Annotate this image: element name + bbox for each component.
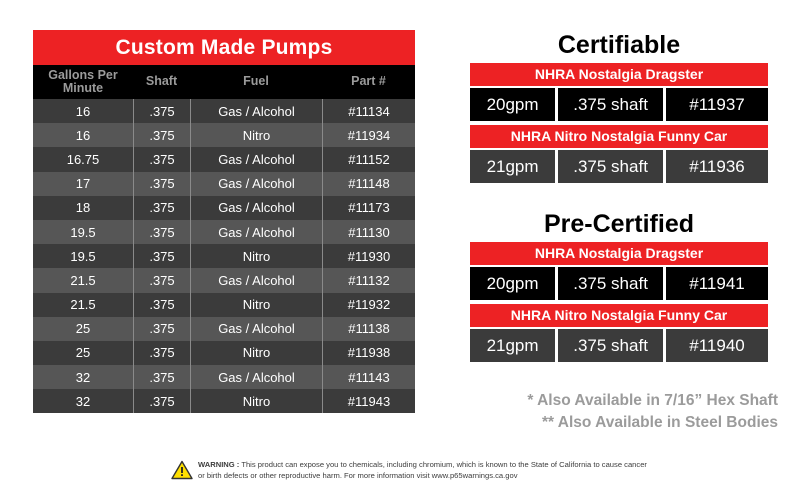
cell-shaft: .375 bbox=[133, 268, 190, 292]
precertified-group-row: 20gpm.375 shaft#11941 bbox=[470, 267, 768, 300]
main-table-body: 16.375Gas / Alcohol#1113416.375Nitro#119… bbox=[33, 99, 415, 413]
cell-fuel: Gas / Alcohol bbox=[190, 317, 322, 341]
prop65-text: WARNING : This product can expose you to… bbox=[198, 459, 651, 481]
certifiable-cell-gpm: 21gpm bbox=[470, 150, 555, 183]
cell-part-number: #11943 bbox=[322, 389, 415, 413]
precertified-cell-gpm: 21gpm bbox=[470, 329, 555, 362]
cell-shaft: .375 bbox=[133, 123, 190, 147]
table-row: 21.5.375Nitro#11932 bbox=[33, 293, 415, 317]
precertified-panel: Pre-Certified NHRA Nostalgia Dragster20g… bbox=[470, 209, 768, 366]
table-row: 17.375Gas / Alcohol#11148 bbox=[33, 172, 415, 196]
cell-gallons-per-minute: 19.5 bbox=[33, 244, 133, 268]
precertified-group-row: 21gpm.375 shaft#11940 bbox=[470, 329, 768, 362]
table-row: 21.5.375Gas / Alcohol#11132 bbox=[33, 268, 415, 292]
table-row: 25.375Gas / Alcohol#11138 bbox=[33, 317, 415, 341]
certifiable-title: Certifiable bbox=[470, 30, 768, 63]
cell-gallons-per-minute: 25 bbox=[33, 341, 133, 365]
cell-part-number: #11932 bbox=[322, 293, 415, 317]
cell-gallons-per-minute: 18 bbox=[33, 196, 133, 220]
cell-gallons-per-minute: 16 bbox=[33, 99, 133, 123]
cell-shaft: .375 bbox=[133, 244, 190, 268]
cell-part-number: #11130 bbox=[322, 220, 415, 244]
table-row: 32.375Nitro#11943 bbox=[33, 389, 415, 413]
cell-fuel: Nitro bbox=[190, 389, 322, 413]
cell-part-number: #11132 bbox=[322, 268, 415, 292]
cell-fuel: Gas / Alcohol bbox=[190, 196, 322, 220]
table-row: 16.75.375Gas / Alcohol#11152 bbox=[33, 147, 415, 171]
table-row: 16.375Nitro#11934 bbox=[33, 123, 415, 147]
precertified-title: Pre-Certified bbox=[470, 209, 768, 242]
cell-part-number: #11148 bbox=[322, 172, 415, 196]
table-row: 18.375Gas / Alcohol#11173 bbox=[33, 196, 415, 220]
main-table-header-row: Gallons Per Minute Shaft Fuel Part # bbox=[33, 65, 415, 99]
cell-fuel: Nitro bbox=[190, 341, 322, 365]
table-row: 19.5.375Gas / Alcohol#11130 bbox=[33, 220, 415, 244]
cell-part-number: #11930 bbox=[322, 244, 415, 268]
certifiable-group-heading: NHRA Nostalgia Dragster bbox=[470, 63, 768, 86]
cell-part-number: #11173 bbox=[322, 196, 415, 220]
precertified-cell-shaft: .375 shaft bbox=[558, 267, 663, 300]
cell-shaft: .375 bbox=[133, 317, 190, 341]
cell-gallons-per-minute: 16.75 bbox=[33, 147, 133, 171]
cell-fuel: Nitro bbox=[190, 123, 322, 147]
certifiable-cell-part-number: #11937 bbox=[666, 88, 768, 121]
cell-gallons-per-minute: 25 bbox=[33, 317, 133, 341]
column-header-fuel: Fuel bbox=[190, 65, 322, 99]
cell-shaft: .375 bbox=[133, 293, 190, 317]
custom-made-pumps-table: Custom Made Pumps Gallons Per Minute Sha… bbox=[33, 30, 415, 413]
table-row: 25.375Nitro#11938 bbox=[33, 341, 415, 365]
cell-part-number: #11152 bbox=[322, 147, 415, 171]
certifiable-cell-shaft: .375 shaft bbox=[558, 88, 663, 121]
cell-shaft: .375 bbox=[133, 172, 190, 196]
certifiable-groups: NHRA Nostalgia Dragster20gpm.375 shaft#1… bbox=[470, 63, 768, 183]
cell-fuel: Gas / Alcohol bbox=[190, 99, 322, 123]
column-header-gpm-line2: Minute bbox=[48, 82, 117, 95]
cell-part-number: #11143 bbox=[322, 365, 415, 389]
certifiable-cell-shaft: .375 shaft bbox=[558, 150, 663, 183]
cell-gallons-per-minute: 17 bbox=[33, 172, 133, 196]
cell-fuel: Gas / Alcohol bbox=[190, 268, 322, 292]
certifiable-panel: Certifiable NHRA Nostalgia Dragster20gpm… bbox=[470, 30, 768, 187]
column-header-part-number: Part # bbox=[322, 65, 415, 99]
cell-shaft: .375 bbox=[133, 196, 190, 220]
cell-shaft: .375 bbox=[133, 99, 190, 123]
column-header-shaft: Shaft bbox=[133, 65, 190, 99]
footnote-hex-shaft: * Also Available in 7/16” Hex Shaft bbox=[458, 390, 778, 412]
cell-shaft: .375 bbox=[133, 147, 190, 171]
cell-shaft: .375 bbox=[133, 341, 190, 365]
cell-part-number: #11938 bbox=[322, 341, 415, 365]
footnotes: * Also Available in 7/16” Hex Shaft ** A… bbox=[458, 390, 778, 435]
cell-gallons-per-minute: 32 bbox=[33, 389, 133, 413]
cell-fuel: Gas / Alcohol bbox=[190, 172, 322, 196]
certifiable-group-row: 21gpm.375 shaft#11936 bbox=[470, 150, 768, 183]
certifiable-group-heading: NHRA Nitro Nostalgia Funny Car bbox=[470, 125, 768, 148]
precertified-cell-shaft: .375 shaft bbox=[558, 329, 663, 362]
cell-part-number: #11138 bbox=[322, 317, 415, 341]
cell-fuel: Nitro bbox=[190, 244, 322, 268]
cell-gallons-per-minute: 21.5 bbox=[33, 293, 133, 317]
cell-shaft: .375 bbox=[133, 220, 190, 244]
certifiable-cell-part-number: #11936 bbox=[666, 150, 768, 183]
table-row: 19.5.375Nitro#11930 bbox=[33, 244, 415, 268]
warning-triangle-icon bbox=[171, 460, 193, 485]
cell-fuel: Gas / Alcohol bbox=[190, 220, 322, 244]
precertified-group-heading: NHRA Nostalgia Dragster bbox=[470, 242, 768, 265]
certifiable-cell-gpm: 20gpm bbox=[470, 88, 555, 121]
table-row: 16.375Gas / Alcohol#11134 bbox=[33, 99, 415, 123]
cell-part-number: #11134 bbox=[322, 99, 415, 123]
column-header-gallons-per-minute: Gallons Per Minute bbox=[33, 65, 133, 99]
precertified-group-heading: NHRA Nitro Nostalgia Funny Car bbox=[470, 304, 768, 327]
footnote-steel-bodies: ** Also Available in Steel Bodies bbox=[458, 412, 778, 434]
cell-fuel: Gas / Alcohol bbox=[190, 147, 322, 171]
cell-gallons-per-minute: 32 bbox=[33, 365, 133, 389]
cell-gallons-per-minute: 16 bbox=[33, 123, 133, 147]
certifiable-group-row: 20gpm.375 shaft#11937 bbox=[470, 88, 768, 121]
cell-gallons-per-minute: 19.5 bbox=[33, 220, 133, 244]
cell-fuel: Gas / Alcohol bbox=[190, 365, 322, 389]
prop65-label: WARNING : bbox=[198, 460, 239, 469]
prop65-warning: WARNING : This product can expose you to… bbox=[171, 459, 651, 485]
cell-shaft: .375 bbox=[133, 365, 190, 389]
cell-shaft: .375 bbox=[133, 389, 190, 413]
table-row: 32.375Gas / Alcohol#11143 bbox=[33, 365, 415, 389]
prop65-body: This product can expose you to chemicals… bbox=[198, 460, 647, 480]
precertified-cell-part-number: #11940 bbox=[666, 329, 768, 362]
precertified-cell-part-number: #11941 bbox=[666, 267, 768, 300]
cell-part-number: #11934 bbox=[322, 123, 415, 147]
cell-gallons-per-minute: 21.5 bbox=[33, 268, 133, 292]
cell-fuel: Nitro bbox=[190, 293, 322, 317]
precertified-groups: NHRA Nostalgia Dragster20gpm.375 shaft#1… bbox=[470, 242, 768, 362]
precertified-cell-gpm: 20gpm bbox=[470, 267, 555, 300]
main-table-title: Custom Made Pumps bbox=[33, 30, 415, 65]
